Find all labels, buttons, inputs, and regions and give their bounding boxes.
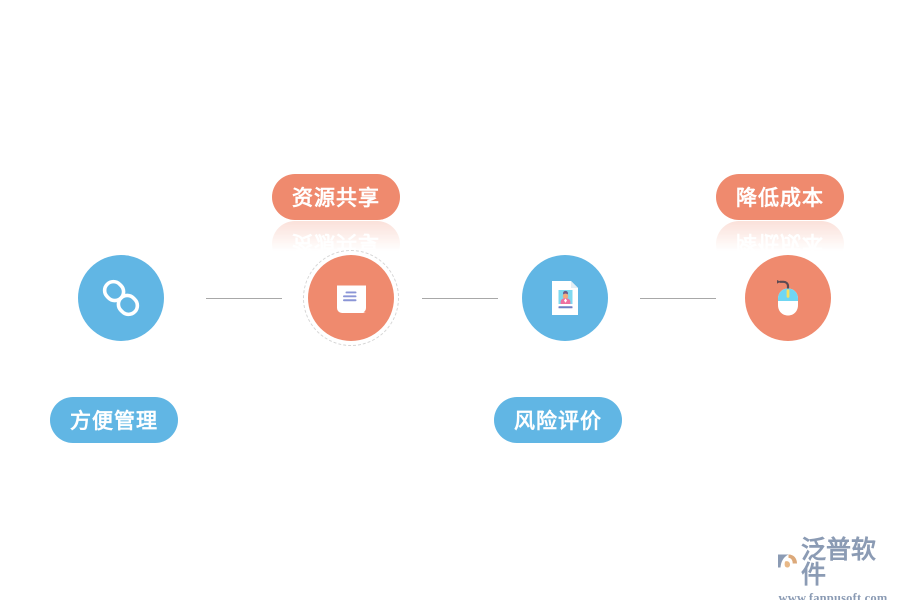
watermark-url: www.fanpusoft.com [775, 591, 891, 600]
badge-node-2-reflection: 资源共享 [272, 221, 400, 251]
connector-line-2 [422, 298, 498, 299]
badge-node-3-label: 风险评价 [514, 405, 602, 435]
flow-node-2[interactable] [308, 255, 394, 341]
badge-node-2-reflection-label: 资源共享 [292, 229, 380, 251]
link-chain-icon [97, 274, 145, 322]
badge-node-4-wrapper: 降低成本 降低成本 [716, 174, 844, 251]
badge-node-1-label: 方便管理 [70, 405, 158, 435]
scroll-document-icon [327, 274, 375, 322]
badge-node-4[interactable]: 降低成本 [716, 174, 844, 220]
watermark: 泛普软件 www.fanpusoft.com [775, 538, 891, 586]
badge-node-1[interactable]: 方便管理 [50, 397, 178, 443]
watermark-brand-row: 泛普软件 [775, 538, 891, 588]
id-card-person-icon [541, 274, 589, 322]
badge-node-2-label: 资源共享 [292, 182, 380, 212]
badge-node-4-label: 降低成本 [736, 182, 824, 212]
connector-line-3 [640, 298, 716, 299]
badge-node-4-reflection-label: 降低成本 [736, 229, 824, 251]
flow-node-1[interactable] [78, 255, 164, 341]
watermark-brand: 泛普软件 [801, 538, 891, 588]
badge-node-4-reflection: 降低成本 [716, 221, 844, 251]
flow-node-3[interactable] [522, 255, 608, 341]
infographic-canvas: 方便管理 资源共享 资源共享 [0, 0, 900, 600]
badge-node-3[interactable]: 风险评价 [494, 397, 622, 443]
fanpu-logo-icon [775, 548, 801, 579]
computer-mouse-icon [764, 274, 812, 322]
connector-line-1 [206, 298, 282, 299]
flow-node-4[interactable] [745, 255, 831, 341]
badge-node-2-wrapper: 资源共享 资源共享 [272, 174, 400, 251]
badge-node-2[interactable]: 资源共享 [272, 174, 400, 220]
